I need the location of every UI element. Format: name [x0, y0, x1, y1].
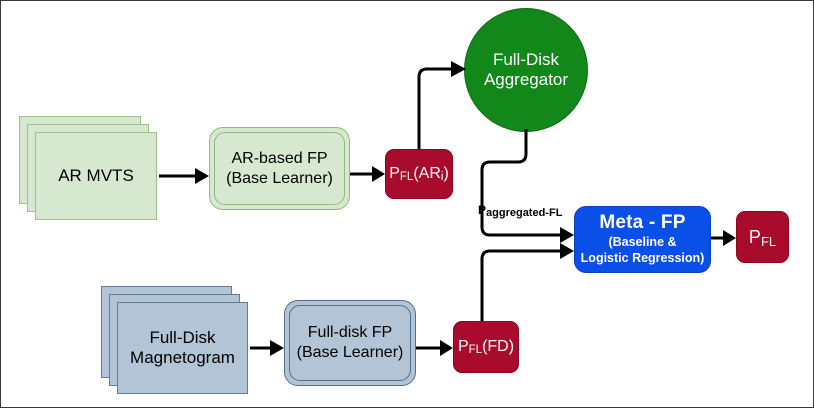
ar-based-fp-line2: (Base Learner) [226, 169, 333, 189]
ar-mvts-label: AR MVTS [35, 132, 157, 220]
edge-label-p-aggregated-fl: Paggregated-FL [478, 203, 562, 217]
p-aggregated-sub: aggregated-FL [486, 207, 562, 219]
p-fl-final-sub: FL [761, 234, 776, 249]
p-fl-fd-sub: FL [469, 344, 482, 356]
ar-based-fp-inner: AR-based FP (Base Learner) [214, 132, 345, 205]
node-ar-based-fp: AR-based FP (Base Learner) [209, 127, 350, 210]
node-p-fl-fd: PFL(FD) [453, 321, 519, 373]
p-fl-final-base: P [749, 227, 761, 247]
p-fl-final-label: PFL [749, 227, 776, 248]
meta-fp-title: Meta - FP [599, 212, 685, 234]
p-fl-ar-sub1: FL [400, 171, 413, 183]
node-full-disk-fp: Full-disk FP (Base Learner) [284, 300, 416, 386]
magnetogram-label: Full-Disk Magnetogram [117, 302, 248, 394]
full-disk-fp-inner: Full-disk FP (Base Learner) [289, 305, 411, 381]
node-full-disk-aggregator: Full-Disk Aggregator [464, 8, 588, 132]
p-fl-ar-label: PFL(ARi) [389, 165, 449, 183]
edge-pflar-to-aggregator [419, 61, 466, 149]
edge-fdfp-to-pflfd [416, 340, 453, 356]
p-aggregated-base: P [478, 203, 486, 217]
full-disk-fp-line2: (Base Learner) [297, 343, 404, 363]
edge-pflfd-to-metafp [482, 243, 574, 321]
edge-arfp-to-pflar [350, 166, 385, 182]
magnetogram-line1: Full-Disk [130, 328, 235, 348]
node-p-fl-final: PFL [736, 211, 789, 263]
meta-fp-sub-line2: Logistic Regression) [581, 251, 705, 267]
ar-based-fp-line1: AR-based FP [226, 149, 333, 169]
edge-magnetogram-to-fdfp [250, 340, 284, 356]
node-meta-fp: Meta - FP (Baseline & Logistic Regressio… [574, 206, 711, 273]
p-fl-fd-mid: (FD) [482, 338, 514, 355]
p-fl-ar-mid: (AR [413, 165, 441, 182]
edge-aggregator-to-metafp [482, 129, 574, 243]
diagram-canvas: AR MVTS AR-based FP (Base Learner) PFL(A… [0, 0, 814, 408]
aggregator-line2: Aggregator [484, 70, 568, 90]
p-fl-fd-label: PFL(FD) [458, 338, 514, 356]
aggregator-line1: Full-Disk [484, 50, 568, 70]
node-p-fl-ar: PFL(ARi) [385, 149, 453, 199]
p-fl-fd-base: P [458, 338, 469, 355]
p-fl-ar-close: ) [443, 165, 448, 182]
p-fl-ar-base: P [389, 165, 400, 182]
meta-fp-sub-line1: (Baseline & [581, 235, 705, 251]
edge-armvts-to-arfp [159, 168, 209, 184]
edge-metafp-to-pfl [711, 230, 736, 246]
magnetogram-line2: Magnetogram [130, 348, 235, 368]
full-disk-fp-line1: Full-disk FP [297, 323, 404, 343]
